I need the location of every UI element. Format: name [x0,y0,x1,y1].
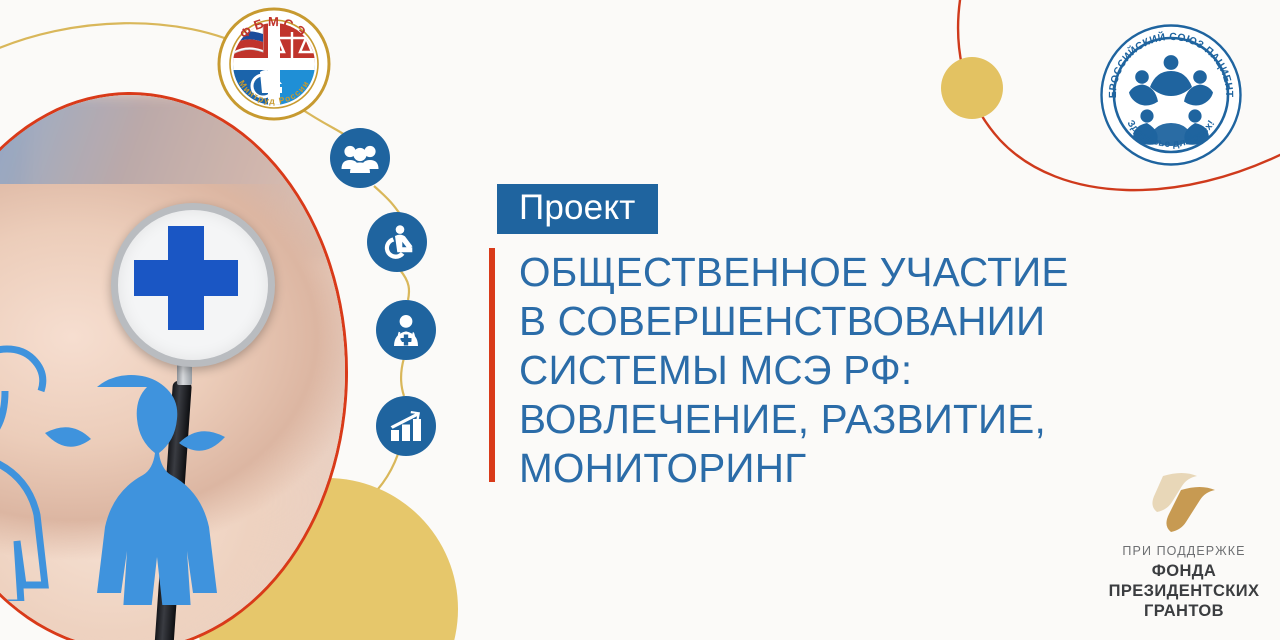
grants-fund-support-text: ПРИ ПОДДЕРЖКЕ [1096,544,1272,558]
all-russian-union-of-patients-emblem: ВСЕРОССИЙСКИЙ СОЮЗ ПАЦИЕНТОВ Здоровье дл… [1098,22,1244,168]
people-group-icon [330,128,390,188]
fbmse-emblem: ФБМСЭ Минтруд России [216,6,332,122]
title-accent-bar [489,248,495,482]
growth-chart-icon [376,396,436,456]
hand-with-stethoscope-photo [0,92,348,640]
presidential-grants-fund-logo: ПРИ ПОДДЕРЖКЕ ФОНДА ПРЕЗИДЕНТСКИХ ГРАНТО… [1096,472,1272,621]
project-badge: Проект [497,184,658,234]
slide-title-block: ОБЩЕСТВЕННОЕ УЧАСТИЕ В СОВЕРШЕНСТВОВАНИИ… [489,248,1069,493]
person-figure-solid [37,375,233,605]
grants-fund-mark-icon [1096,472,1272,536]
wheelchair-accessibility-icon [367,212,427,272]
page-title: ОБЩЕСТВЕННОЕ УЧАСТИЕ В СОВЕРШЕНСТВОВАНИИ… [519,248,1069,493]
doctor-icon [376,300,436,360]
presentation-slide: ФБМСЭ Минтруд России [0,0,1280,640]
grants-fund-name: ФОНДА ПРЕЗИДЕНТСКИХ ГРАНТОВ [1096,561,1272,621]
gold-circle-decoration-small [941,57,1003,119]
